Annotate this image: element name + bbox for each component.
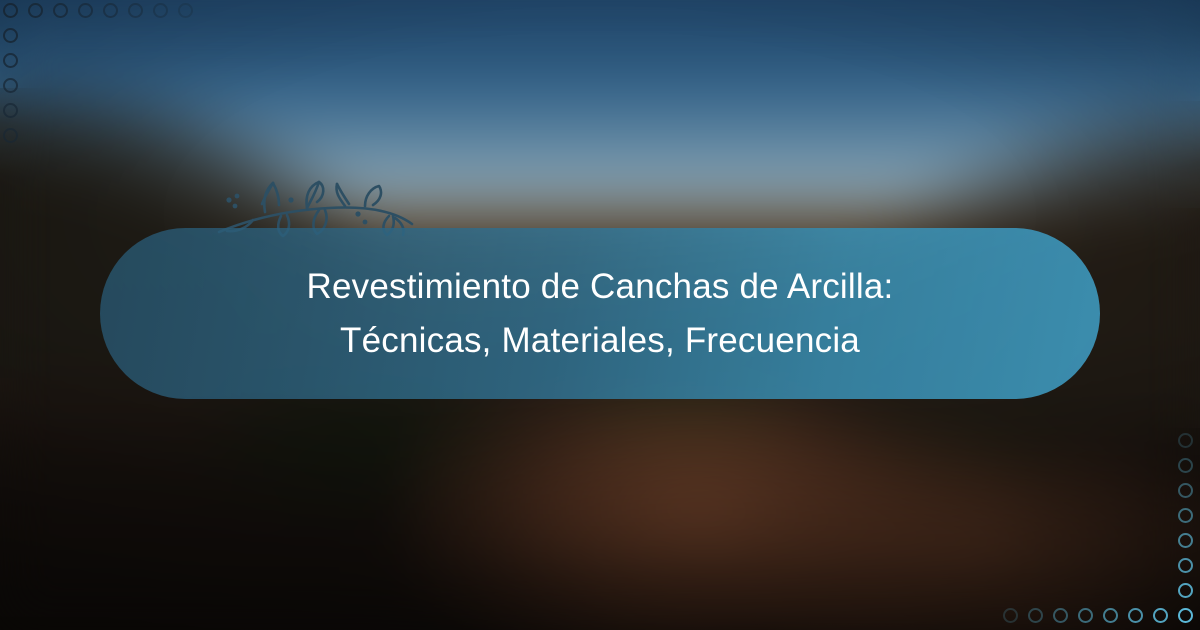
decorative-dot xyxy=(3,78,18,93)
decorative-dot xyxy=(1178,433,1193,448)
title-pill: Revestimiento de Canchas de Arcilla: Téc… xyxy=(100,228,1100,399)
decorative-dot xyxy=(1003,608,1018,623)
decorative-dot xyxy=(1178,583,1193,598)
decorative-dot xyxy=(1178,533,1193,548)
decorative-dot xyxy=(1153,608,1168,623)
decorative-dot xyxy=(3,128,18,143)
dot-grid-bottom-right xyxy=(990,420,1200,630)
title-line-2: Técnicas, Materiales, Frecuencia xyxy=(340,314,860,368)
decorative-dot xyxy=(128,3,143,18)
decorative-dot xyxy=(1178,608,1193,623)
decorative-dot xyxy=(1103,608,1118,623)
decorative-dot xyxy=(53,3,68,18)
decorative-dot xyxy=(28,3,43,18)
decorative-dot xyxy=(78,3,93,18)
decorative-dot xyxy=(1078,608,1093,623)
decorative-dot xyxy=(1028,608,1043,623)
decorative-dot xyxy=(3,28,18,43)
decorative-dot xyxy=(153,3,168,18)
floral-branch-icon xyxy=(213,152,418,238)
decorative-dot xyxy=(1053,608,1068,623)
decorative-dot xyxy=(1178,558,1193,573)
decorative-dot xyxy=(178,3,193,18)
decorative-dot xyxy=(1178,508,1193,523)
share-card: Revestimiento de Canchas de Arcilla: Téc… xyxy=(0,0,1200,630)
decorative-dot xyxy=(1128,608,1143,623)
decorative-dot xyxy=(3,3,18,18)
decorative-dot xyxy=(3,53,18,68)
decorative-dot xyxy=(1178,458,1193,473)
decorative-dot xyxy=(103,3,118,18)
title-line-1: Revestimiento de Canchas de Arcilla: xyxy=(307,260,894,314)
decorative-dot xyxy=(3,103,18,118)
decorative-dot xyxy=(1178,483,1193,498)
